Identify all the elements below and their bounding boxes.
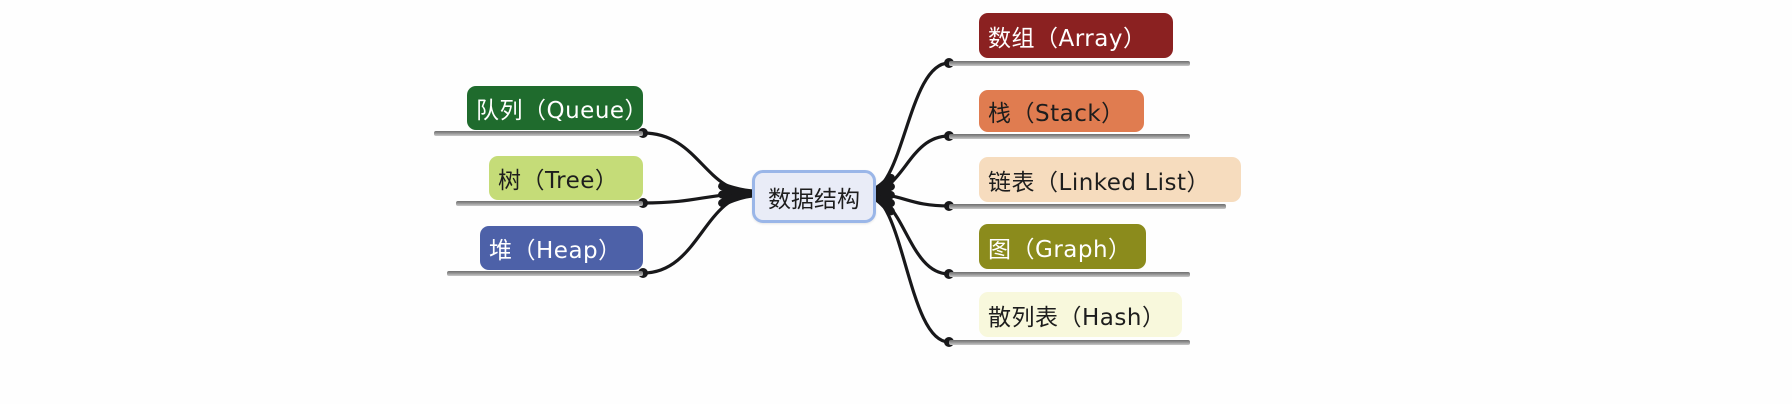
branch-node-label: 树（Tree）: [498, 161, 634, 195]
mindmap-center-node[interactable]: 数据结构: [752, 170, 876, 223]
mindmap-edge: [866, 194, 949, 343]
branch-underline-图-graph: [949, 272, 1190, 277]
mindmap-edge-root: [722, 194, 756, 204]
branch-node-label: 数组（Array）: [988, 19, 1164, 53]
branch-node-数组-array[interactable]: 数组（Array）: [979, 13, 1173, 58]
branch-node-label: 栈（Stack）: [988, 94, 1135, 128]
branch-node-栈-stack[interactable]: 栈（Stack）: [979, 90, 1144, 132]
branch-underline-链表-linked-list: [949, 204, 1226, 209]
branch-underline-堆-heap: [447, 271, 643, 276]
branch-node-队列-queue[interactable]: 队列（Queue）: [467, 86, 643, 130]
branch-node-堆-heap[interactable]: 堆（Heap）: [480, 226, 643, 270]
branch-node-label: 链表（Linked List）: [988, 163, 1232, 197]
branch-node-树-tree[interactable]: 树（Tree）: [489, 156, 643, 200]
branch-underline-树-tree: [456, 201, 643, 206]
branch-node-label: 堆（Heap）: [489, 231, 634, 265]
center-node-label: 数据结构: [768, 180, 860, 214]
mindmap-edge: [866, 136, 949, 194]
mindmap-edge-root: [722, 194, 756, 195]
branch-node-label: 散列表（Hash）: [988, 298, 1173, 332]
mindmap-edge: [643, 194, 756, 274]
mindmap-edge-root: [722, 186, 756, 193]
mindmap-canvas: 数据结构 队列（Queue）树（Tree）堆（Heap） 数组（Array）栈（…: [0, 0, 1792, 404]
mindmap-edges: [0, 0, 1792, 404]
branch-node-散列表-hash[interactable]: 散列表（Hash）: [979, 292, 1182, 337]
branch-node-label: 队列（Queue）: [476, 91, 634, 125]
branch-node-图-graph[interactable]: 图（Graph）: [979, 224, 1146, 269]
branch-node-链表-linked-list[interactable]: 链表（Linked List）: [979, 157, 1241, 202]
branch-underline-散列表-hash: [949, 340, 1190, 345]
branch-underline-队列-queue: [434, 131, 643, 136]
branch-underline-栈-stack: [949, 134, 1190, 139]
mindmap-edge: [643, 194, 756, 204]
mindmap-edge: [643, 133, 756, 194]
mindmap-edge: [866, 63, 949, 194]
branch-node-label: 图（Graph）: [988, 230, 1137, 264]
mindmap-edge: [866, 194, 949, 275]
mindmap-edge: [866, 194, 949, 207]
branch-underline-数组-array: [949, 61, 1190, 66]
